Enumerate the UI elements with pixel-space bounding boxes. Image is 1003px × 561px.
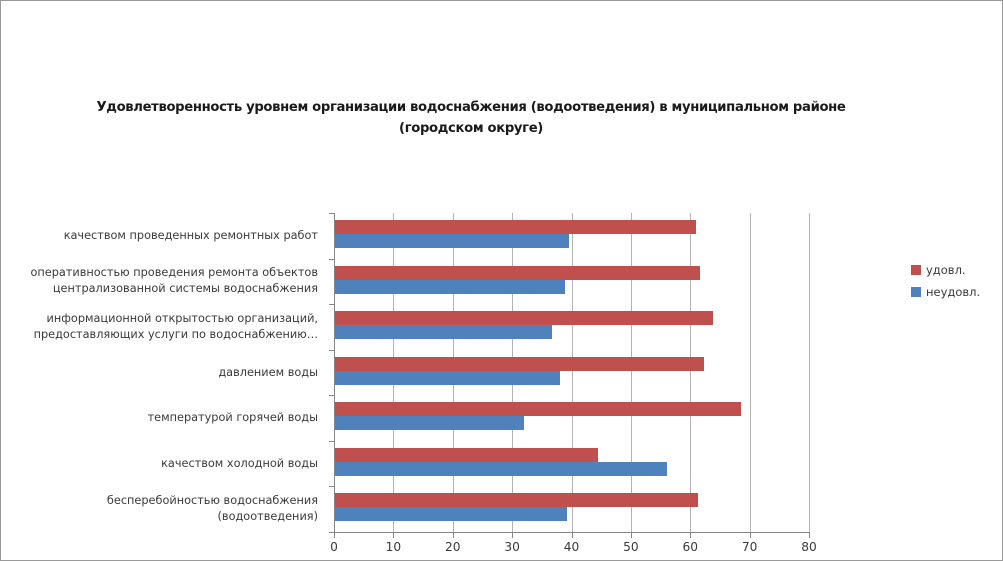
- chart-legend: удовл.неудовл.: [911, 259, 997, 303]
- legend-label: неудовл.: [926, 285, 980, 299]
- x-axis-tick: [690, 532, 691, 538]
- x-axis-tick-label: 20: [445, 540, 461, 554]
- chart-title-line-1: Удовлетворенность уровнем организации во…: [96, 100, 845, 115]
- bar-neudovl[interactable]: [334, 416, 524, 430]
- bar-udovl[interactable]: [334, 448, 598, 462]
- y-axis-label-line: централизованной системы водоснабжения: [1, 281, 318, 297]
- x-axis-tick: [809, 532, 810, 538]
- y-axis-label: температурой горячей воды: [1, 410, 318, 426]
- y-axis-label-line: оперативностью проведения ремонта объект…: [1, 265, 318, 281]
- y-axis-label: информационной открытостью организаций,п…: [1, 311, 318, 343]
- category-row: [334, 395, 809, 441]
- x-axis-tick-label: 40: [564, 540, 580, 554]
- bar-neudovl[interactable]: [334, 507, 567, 521]
- category-row: [334, 441, 809, 487]
- y-axis-line: [334, 213, 335, 533]
- y-axis-label-line: бесперебойностью водоснабжения: [1, 493, 318, 509]
- bar-neudovl[interactable]: [334, 462, 667, 476]
- x-axis-tick-label: 60: [682, 540, 698, 554]
- x-axis-tick: [572, 532, 573, 538]
- category-row: [334, 486, 809, 532]
- bar-udovl[interactable]: [334, 266, 700, 280]
- legend-swatch-icon: [911, 265, 921, 275]
- x-axis-tick: [334, 532, 335, 538]
- bar-udovl[interactable]: [334, 220, 696, 234]
- y-axis-label-line: предоставляющих услуги по водоснабжению…: [1, 327, 318, 343]
- category-row: [334, 213, 809, 259]
- chart-container: Удовлетворенность уровнем организации во…: [0, 0, 1003, 561]
- bar-neudovl[interactable]: [334, 234, 569, 248]
- x-axis-tick: [512, 532, 513, 538]
- x-axis-tick-label: 80: [801, 540, 817, 554]
- bar-neudovl[interactable]: [334, 325, 552, 339]
- y-axis-label-line: (водоотведения): [1, 509, 318, 525]
- bar-udovl[interactable]: [334, 402, 741, 416]
- bar-series-group: [334, 213, 809, 532]
- category-row: [334, 350, 809, 396]
- y-axis-label-line: качеством проведенных ремонтных работ: [1, 228, 318, 244]
- legend-label: удовл.: [926, 263, 966, 277]
- y-axis-label: качеством холодной воды: [1, 456, 318, 472]
- y-axis-label: бесперебойностью водоснабжения(водоотвед…: [1, 493, 318, 525]
- y-axis-label-line: информационной открытостью организаций,: [1, 311, 318, 327]
- x-axis-tick: [631, 532, 632, 538]
- x-axis-tick-label: 0: [330, 540, 338, 554]
- bar-udovl[interactable]: [334, 357, 704, 371]
- bar-neudovl[interactable]: [334, 280, 565, 294]
- x-axis-tick: [750, 532, 751, 538]
- x-axis-tick: [393, 532, 394, 538]
- category-row: [334, 259, 809, 305]
- x-axis-tick-label: 10: [386, 540, 402, 554]
- x-axis-tick-label: 50: [623, 540, 639, 554]
- legend-swatch-icon: [911, 287, 921, 297]
- y-axis-label-line: качеством холодной воды: [1, 456, 318, 472]
- x-axis-tick: [453, 532, 454, 538]
- x-axis-ticks: [334, 532, 810, 539]
- x-axis-tick-labels: 01020304050607080: [334, 540, 810, 558]
- y-axis-label: давлением воды: [1, 365, 318, 381]
- y-axis-label-line: давлением воды: [1, 365, 318, 381]
- chart-title: Удовлетворенность уровнем организации во…: [91, 97, 851, 139]
- y-axis-label-line: температурой горячей воды: [1, 410, 318, 426]
- legend-item[interactable]: неудовл.: [911, 281, 997, 303]
- plot-area: [334, 213, 809, 532]
- bar-udovl[interactable]: [334, 311, 713, 325]
- legend-item[interactable]: удовл.: [911, 259, 997, 281]
- category-row: [334, 304, 809, 350]
- y-axis-labels: качеством проведенных ремонтных работопе…: [1, 213, 326, 532]
- x-axis-tick-label: 70: [742, 540, 758, 554]
- gridline-x-80: [809, 213, 810, 532]
- bar-udovl[interactable]: [334, 493, 698, 507]
- bar-neudovl[interactable]: [334, 371, 560, 385]
- y-axis-label: оперативностью проведения ремонта объект…: [1, 265, 318, 297]
- x-axis-tick-label: 30: [504, 540, 520, 554]
- chart-title-line-2: (городском округе): [399, 121, 543, 136]
- y-axis-label: качеством проведенных ремонтных работ: [1, 228, 318, 244]
